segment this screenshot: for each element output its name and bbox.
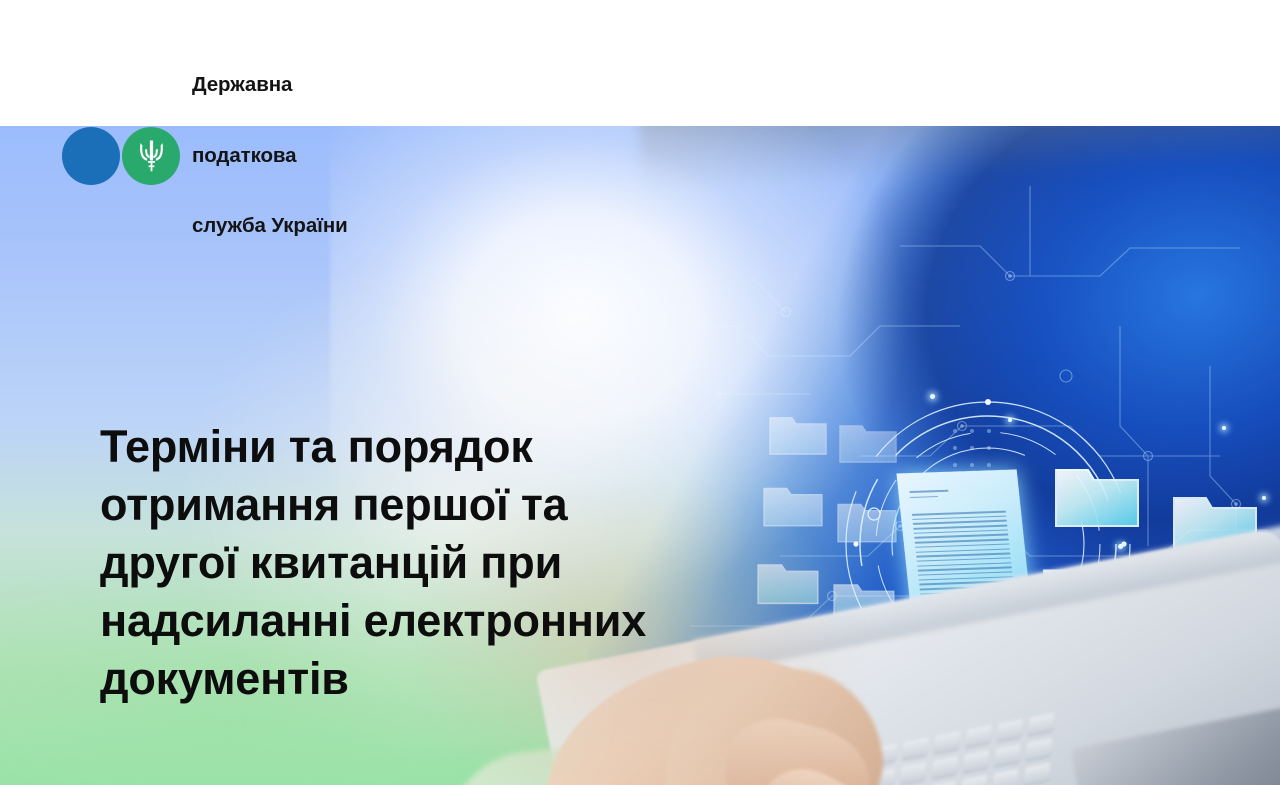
logo-marks	[62, 119, 180, 191]
title-line-5: документів	[100, 650, 800, 708]
site-header: Державна податкова служба України	[0, 0, 1280, 126]
banner-page: Державна податкова служба України	[0, 0, 1280, 785]
page-title: Терміни та порядок отримання першої та д…	[100, 418, 800, 708]
logo-line-3: служба України	[192, 214, 348, 238]
title-line-2: отримання першої та	[100, 476, 800, 534]
ukrainian-trident-icon	[138, 139, 165, 173]
title-line-4: надсиланні електронних	[100, 592, 800, 650]
title-line-3: другої квитанцій при	[100, 534, 800, 592]
title-line-1: Терміни та порядок	[100, 418, 800, 476]
logo-line-2: податкова	[192, 144, 348, 168]
logo-line-1: Державна	[192, 73, 348, 97]
organization-logo[interactable]: Державна податкова служба України	[62, 26, 348, 285]
blue-circle-icon	[62, 127, 120, 185]
green-circle-trident-icon	[122, 127, 180, 185]
organization-name: Державна податкова служба України	[192, 26, 348, 285]
